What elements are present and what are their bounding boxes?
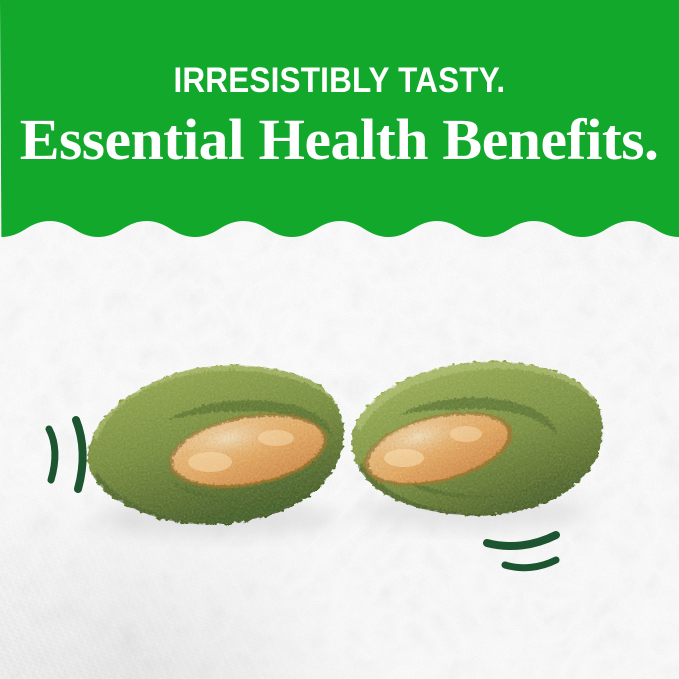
motion-lines-right <box>487 535 556 568</box>
product-photo <box>0 262 679 679</box>
header-wave-shape <box>0 0 679 237</box>
product-banner: IRRESISTIBLY TASTY. Essential Health Ben… <box>0 0 679 679</box>
motion-lines-left <box>49 420 83 489</box>
motion-line-left-outer <box>49 429 55 480</box>
motion-line-right-lower <box>505 560 556 568</box>
motion-line-left-inner <box>76 420 83 489</box>
header-band: IRRESISTIBLY TASTY. Essential Health Ben… <box>0 0 679 262</box>
motion-line-right-upper <box>487 535 556 546</box>
